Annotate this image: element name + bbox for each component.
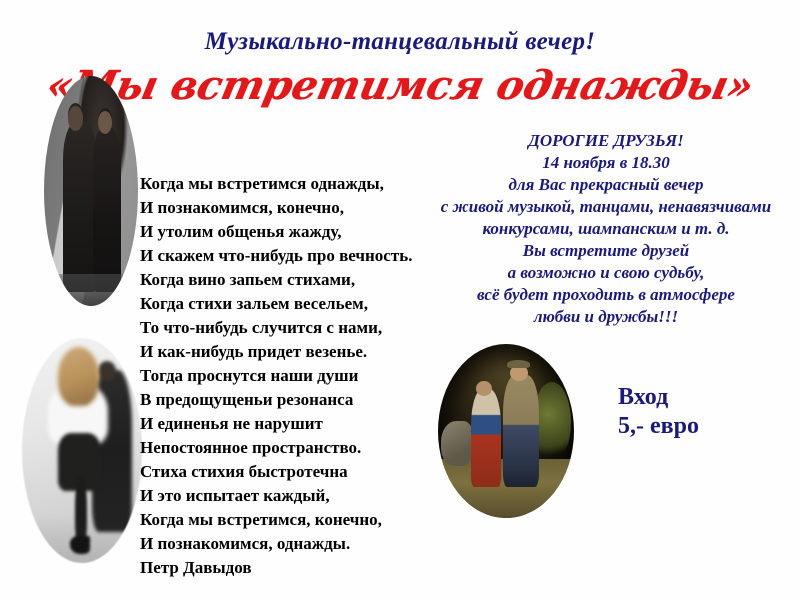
- photo-man-figure: [63, 122, 97, 292]
- poem-line: И скажем что-нибудь про вечность.: [140, 244, 440, 268]
- announcement-line: для Вас прекрасный вечер: [412, 174, 800, 196]
- entrance-price: 5,- евро: [618, 412, 699, 441]
- painting-man-figure: [503, 375, 538, 486]
- poem-line: Непостоянное пространство.: [140, 436, 440, 460]
- poem-block: Когда мы встретимся однажды, И познакоми…: [140, 172, 440, 580]
- poem-line: И утолим общенья жажду,: [140, 220, 440, 244]
- announcement-line: ДОРОГИЕ ДРУЗЬЯ!: [412, 130, 800, 152]
- painting-man-hat: [507, 360, 530, 369]
- photo-woman-head: [98, 111, 112, 134]
- painting-foliage: [533, 382, 571, 462]
- poem-line: В предощущеньи резонанса: [140, 388, 440, 412]
- announcement-line: любви и дружбы!!!: [412, 306, 800, 328]
- announcement-line: с живой музыкой, танцами, ненавязчивами: [412, 196, 800, 218]
- poem-line: Когда вино запьем стихами,: [140, 268, 440, 292]
- announcement-line: а возможно и свою судьбу,: [412, 262, 800, 284]
- painting-rock: [441, 421, 474, 466]
- poem-line: И это испытает каждый,: [140, 484, 440, 508]
- poem-line: И познакомимся, конечно,: [140, 196, 440, 220]
- poem-line: Когда стихи зальем весельем,: [140, 292, 440, 316]
- dancers-man-head: [98, 361, 116, 381]
- poem-line: Когда мы встретимся, конечно,: [140, 508, 440, 532]
- entrance-label: Вход: [618, 383, 699, 412]
- announcement-line: 14 ноября в 18.30: [412, 152, 800, 174]
- poem-line: И единенья не нарушит: [140, 412, 440, 436]
- photo-dancing-couple: [22, 338, 142, 563]
- announcement-line: конкурсами, шампанским и т. д.: [412, 218, 800, 240]
- announcement-line: Вы встретите друзей: [412, 240, 800, 262]
- poem-line: Когда мы встретимся однажды,: [140, 172, 440, 196]
- photo-woman-figure: [93, 127, 121, 293]
- poem-line: То что-нибудь случится с нами,: [140, 316, 440, 340]
- announcement-block: ДОРОГИЕ ДРУЗЬЯ! 14 ноября в 18.30 для Ва…: [412, 130, 800, 328]
- poster-canvas: Музыкально-танцевальный вечер! «Мы встре…: [0, 0, 800, 600]
- poem-line: Тогда проснутся наши души: [140, 364, 440, 388]
- dancers-woman-hair: [58, 347, 99, 406]
- photo-floor: [44, 274, 138, 306]
- poem-line: И как-нибудь придет везенье.: [140, 340, 440, 364]
- poem-line: Стиха стихия быстротечна: [140, 460, 440, 484]
- announcement-line: всё будет проходить в атмосфере: [412, 284, 800, 306]
- photo-couple-standing: [44, 76, 138, 306]
- poster-title-top: Музыкально-танцевальный вечер!: [0, 28, 800, 56]
- painting-rustic-couple: [438, 344, 574, 518]
- dancers-woman-shoe: [70, 536, 90, 554]
- poem-author: Петр Давыдов: [140, 556, 440, 580]
- painting-woman-figure: [471, 389, 501, 486]
- poem-line: И познакомимся, однажды.: [140, 532, 440, 556]
- entrance-price-block: Вход 5,- евро: [618, 383, 699, 441]
